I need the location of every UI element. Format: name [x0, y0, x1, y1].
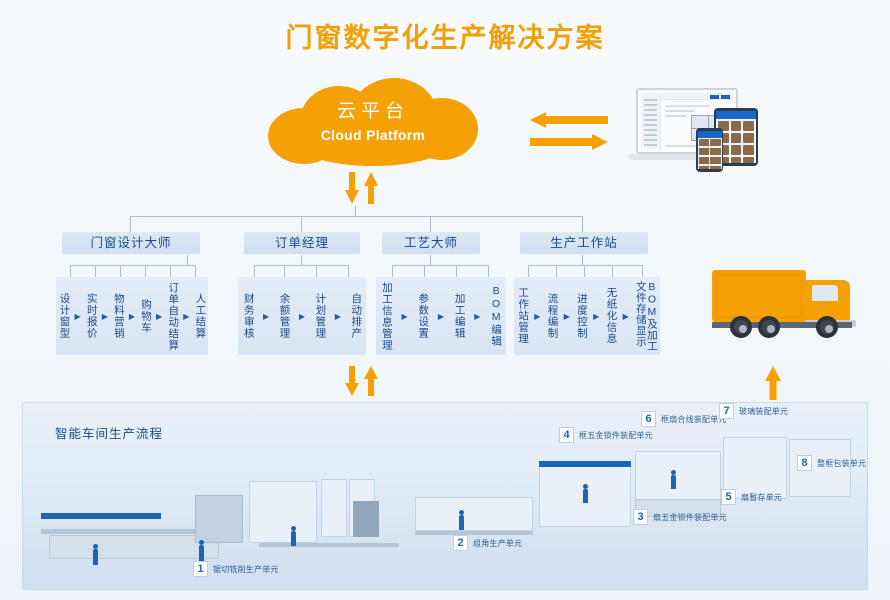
- chevron-right-icon: ▶: [401, 312, 407, 321]
- chevron-right-icon: ▶: [263, 312, 269, 321]
- workshop-down-arrow-icon: [345, 366, 359, 396]
- module-header-production-workstation[interactable]: 生产工作站: [520, 232, 648, 254]
- delivery-truck-illustration: [712, 262, 864, 354]
- workshop-unit-2[interactable]: 2 组角生产单元: [453, 535, 522, 551]
- saw-line-beam: [41, 513, 161, 519]
- chevron-right-icon: ▶: [75, 312, 81, 321]
- workshop-unit-3[interactable]: 3 扇五金锁件装配单元: [633, 509, 727, 525]
- exchange-right-arrow-icon: [530, 134, 608, 150]
- solution-diagram-page: 门窗数字化生产解决方案 云平台 Cloud Platform: [0, 0, 890, 600]
- module-item-manual-settlement[interactable]: 人工结算: [194, 293, 205, 339]
- exchange-left-arrow-icon: [530, 112, 608, 128]
- module-item-workstation-management[interactable]: 工作站管理: [517, 287, 528, 345]
- module-header-order-manager[interactable]: 订单经理: [244, 232, 360, 254]
- worker-figure: [583, 489, 588, 503]
- unit-label: 整框包装单元: [817, 458, 866, 469]
- unit-label: 扇暂存单元: [741, 492, 782, 503]
- worker-figure: [671, 475, 676, 489]
- module-item-auto-scheduling[interactable]: 自动排产: [350, 293, 361, 339]
- unit-label: 玻璃装配单元: [739, 406, 788, 417]
- module-item-realtime-quote[interactable]: 实时报价: [86, 293, 97, 339]
- phone-device: [696, 128, 723, 172]
- module-item-plan-management[interactable]: 计划管理: [314, 293, 325, 339]
- chevron-right-icon: ▶: [335, 312, 341, 321]
- module-item-process-edit[interactable]: 加工编辑: [454, 293, 465, 339]
- unit-label: 扇五金锁件装配单元: [653, 512, 727, 523]
- workshop-unit-4[interactable]: 4 框五金锁件装配单元: [559, 427, 653, 443]
- smart-workshop-panel: 智能车间生产流程 1 锯切铣削生产单元 2 组角生产单元: [22, 402, 868, 590]
- worker-figure: [93, 549, 98, 565]
- storage-rack-a: [321, 479, 347, 537]
- module-item-bom-file-storage[interactable]: BOM及加工 文件存储显示: [635, 281, 657, 352]
- workshop-title: 智能车间生产流程: [55, 423, 163, 442]
- cloud-title-en: Cloud Platform: [268, 127, 478, 143]
- unit-number-badge: 7: [719, 403, 734, 419]
- workshop-unit-5[interactable]: 5 扇暂存单元: [721, 489, 782, 505]
- workshop-unit-7[interactable]: 7 玻璃装配单元: [719, 403, 788, 419]
- worker-figure: [291, 531, 296, 546]
- chevron-right-icon: ▶: [534, 312, 540, 321]
- unit-label: 框扇合线装配单元: [661, 414, 727, 425]
- unit-number-badge: 5: [721, 489, 736, 505]
- milling-machine: [249, 481, 317, 543]
- module-body-process-master: 加工信息管理 ▶ 参数设置 ▶ 加工编辑 ▶ BOM编辑: [376, 277, 506, 355]
- chevron-right-icon: ▶: [156, 312, 162, 321]
- chevron-right-icon: ▶: [474, 312, 480, 321]
- module-item-progress-control[interactable]: 进度控制: [576, 293, 587, 339]
- truck-up-arrow-icon: [765, 366, 781, 400]
- module-item-finance-audit[interactable]: 财务审核: [243, 293, 254, 339]
- chevron-right-icon: ▶: [564, 312, 570, 321]
- workshop-unit-6[interactable]: 6 框扇合线装配单元: [641, 411, 727, 427]
- unit-number-badge: 6: [641, 411, 656, 427]
- cloud-labels: 云平台 Cloud Platform: [268, 96, 478, 143]
- conveyor-rail-2: [259, 543, 399, 547]
- worker-figure: [459, 515, 464, 530]
- module-item-parameter-settings[interactable]: 参数设置: [417, 293, 428, 339]
- unit-label: 锯切铣削生产单元: [213, 564, 279, 575]
- module-item-bom-processing-label: BOM及加工: [646, 281, 657, 352]
- saw-line-base: [49, 535, 219, 559]
- module-body-production-workstation: 工作站管理 ▶ 流程编制 ▶ 进度控制 ▶ 无纸化信息 ▶ BOM及加工 文件存…: [514, 277, 660, 355]
- module-item-shopping-cart[interactable]: 购物车: [140, 299, 151, 334]
- module-item-balance-management[interactable]: 余额管理: [279, 293, 290, 339]
- cloud-title-cn: 云平台: [268, 96, 478, 123]
- module-item-process-planning[interactable]: 流程编制: [547, 293, 558, 339]
- workshop-unit-1[interactable]: 1 锯切铣削生产单元: [193, 561, 279, 577]
- module-item-bom-edit[interactable]: BOM编辑: [490, 285, 501, 347]
- chevron-right-icon: ▶: [623, 312, 629, 321]
- chevron-right-icon: ▶: [438, 312, 444, 321]
- module-header-design-master[interactable]: 门窗设计大师: [62, 232, 200, 254]
- robot-arm: [353, 501, 379, 537]
- module-header-process-master[interactable]: 工艺大师: [382, 232, 480, 254]
- module-body-order-manager: 财务审核 ▶ 余额管理 ▶ 计划管理 ▶ 自动排产: [238, 277, 366, 355]
- chevron-right-icon: ▶: [183, 312, 189, 321]
- frame-station-beam: [539, 461, 631, 467]
- page-title: 门窗数字化生产解决方案: [0, 16, 890, 55]
- module-item-material-marketing[interactable]: 物料营销: [113, 293, 124, 339]
- cloud-platform-node[interactable]: 云平台 Cloud Platform: [268, 78, 478, 166]
- unit-label: 组角生产单元: [473, 538, 522, 549]
- devices-illustration: [628, 88, 776, 170]
- unit-label: 框五金锁件装配单元: [579, 430, 653, 441]
- chevron-right-icon: ▶: [593, 312, 599, 321]
- module-item-auto-settlement[interactable]: 订单自动结算: [167, 282, 178, 351]
- unit-number-badge: 3: [633, 509, 648, 525]
- module-item-paperless-info[interactable]: 无纸化信息: [605, 287, 616, 345]
- assembly-conveyor: [415, 497, 533, 531]
- workshop-unit-8[interactable]: 8 整框包装单元: [797, 455, 866, 471]
- chevron-right-icon: ▶: [129, 312, 135, 321]
- chevron-right-icon: ▶: [102, 312, 108, 321]
- unit-number-badge: 2: [453, 535, 468, 551]
- workshop-up-arrow-icon: [364, 366, 378, 396]
- worker-figure: [199, 545, 204, 561]
- laptop-sidebar: [641, 93, 661, 149]
- saw-machine-cabinet: [195, 495, 243, 543]
- module-body-design-master: 设计窗型 ▶ 实时报价 ▶ 物料营销 ▶ 购物车 ▶ 订单自动结算 ▶ 人工结算: [56, 277, 208, 355]
- chevron-right-icon: ▶: [299, 312, 305, 321]
- module-item-file-storage-label: 文件存储显示: [635, 281, 646, 352]
- unit-number-badge: 8: [797, 455, 812, 471]
- unit-number-badge: 4: [559, 427, 574, 443]
- module-item-design-window[interactable]: 设计窗型: [59, 293, 70, 339]
- unit-number-badge: 1: [193, 561, 208, 577]
- module-item-process-info[interactable]: 加工信息管理: [381, 282, 392, 351]
